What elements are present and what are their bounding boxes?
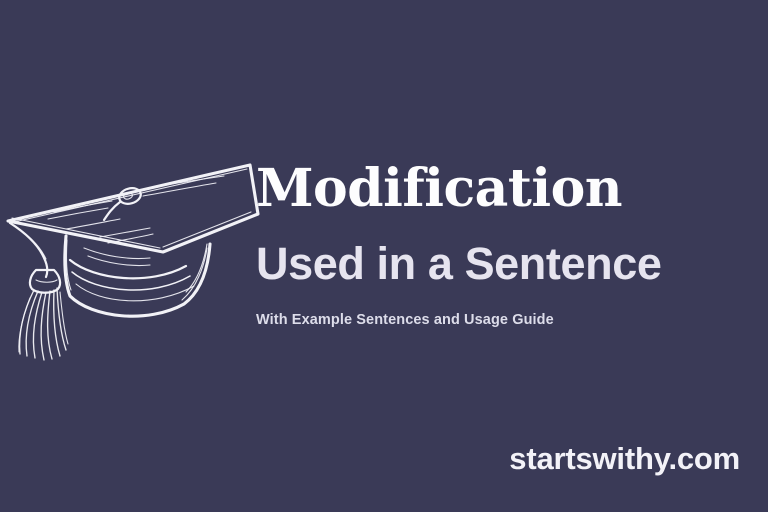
site-brand: startswithy.com bbox=[509, 440, 740, 478]
tassel-cord bbox=[10, 223, 47, 277]
tassel-knot bbox=[30, 270, 60, 293]
headline-block: Modification Used in a Sentence With Exa… bbox=[256, 160, 756, 330]
subtitle: With Example Sentences and Usage Guide bbox=[256, 310, 756, 330]
graduation-cap-icon bbox=[0, 140, 270, 380]
mortarboard-hatching bbox=[48, 176, 224, 243]
social-card-canvas: Modification Used in a Sentence With Exa… bbox=[0, 0, 768, 512]
tassel-strands bbox=[19, 288, 68, 360]
page-title: Modification bbox=[256, 160, 756, 218]
mortarboard-top-shape bbox=[8, 165, 258, 252]
mortarboard-button-knob bbox=[104, 186, 143, 220]
cap-crown-connector bbox=[84, 248, 150, 266]
headline: Used in a Sentence bbox=[256, 238, 756, 290]
cap-crown bbox=[65, 236, 210, 316]
